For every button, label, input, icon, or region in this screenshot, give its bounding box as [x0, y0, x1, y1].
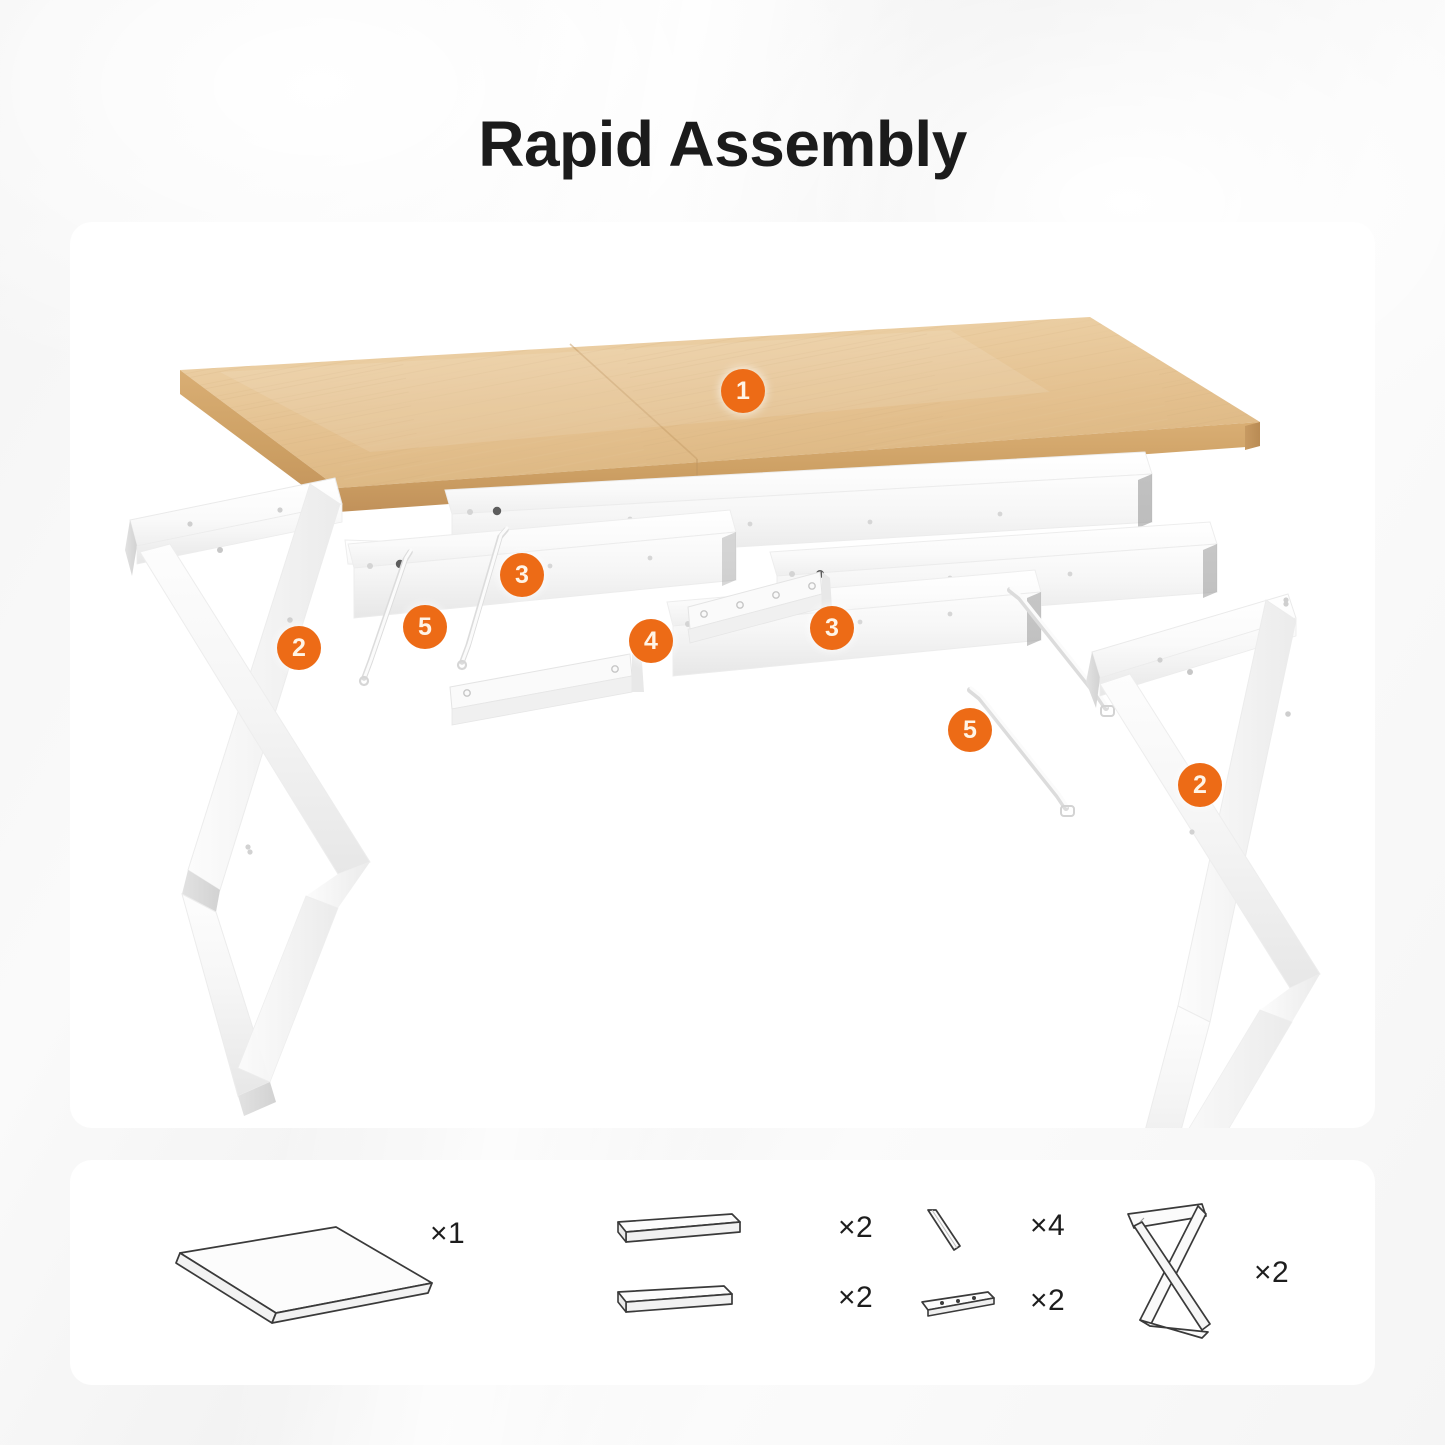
legend-card: ×1 ×2 ×2 ×4 [70, 1160, 1375, 1385]
legend-qty-beam-short: ×2 [838, 1281, 873, 1315]
part-support-rod-right-b [970, 688, 1074, 816]
legend-item-tabletop: ×1 [110, 1205, 465, 1335]
beam-long-icon [610, 1206, 750, 1250]
legend-item-plate: ×2 [910, 1280, 1065, 1328]
legend-qty-rod: ×4 [1030, 1209, 1065, 1243]
page-title: Rapid Assembly [0, 107, 1445, 181]
part-x-leg-frame-left [125, 478, 370, 1116]
tabletop-panel-icon [110, 1205, 450, 1335]
diagram-stage: 1 2 3 5 4 3 5 2 [70, 222, 1375, 1128]
legend-item-rod: ×4 [910, 1200, 1065, 1260]
plate-icon [910, 1280, 1020, 1328]
legend-stage: ×1 ×2 ×2 ×4 [70, 1160, 1375, 1385]
part-x-leg-frame-right [1086, 594, 1320, 1128]
legend-qty-plate: ×2 [1030, 1284, 1065, 1318]
x-leg-frame-icon [1110, 1198, 1240, 1348]
callout-badge-3[interactable]: 3 [500, 553, 544, 597]
legend-qty-tabletop: ×1 [430, 1217, 465, 1251]
callout-badge-2[interactable]: 2 [277, 626, 321, 670]
part-connector-plate-lower [450, 654, 644, 725]
rod-icon [910, 1200, 1020, 1260]
callout-badge-2b[interactable]: 2 [1178, 763, 1222, 807]
callout-badge-1[interactable]: 1 [721, 369, 765, 413]
callout-badge-4[interactable]: 4 [629, 619, 673, 663]
exploded-assembly-illustration [70, 222, 1375, 1128]
beam-short-icon [610, 1276, 750, 1320]
legend-item-beam-long: ×2 [610, 1206, 873, 1250]
callout-badge-3b[interactable]: 3 [810, 606, 854, 650]
callout-badge-5b[interactable]: 5 [948, 708, 992, 752]
legend-qty-beam-long: ×2 [838, 1211, 873, 1245]
legend-item-beam-short: ×2 [610, 1276, 873, 1320]
legend-qty-x-leg: ×2 [1254, 1256, 1289, 1290]
callout-badge-5[interactable]: 5 [403, 605, 447, 649]
diagram-card: 1 2 3 5 4 3 5 2 [70, 222, 1375, 1128]
legend-item-x-leg: ×2 [1110, 1198, 1289, 1348]
